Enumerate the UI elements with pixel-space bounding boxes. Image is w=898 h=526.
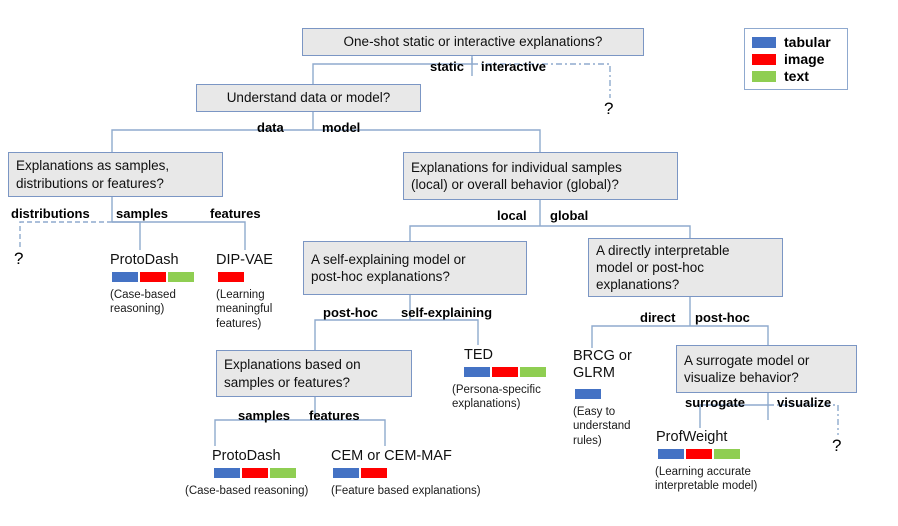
edge-label-interactive: interactive bbox=[481, 60, 546, 73]
leaf-protodash-top-desc: (Case-based reasoning) bbox=[110, 288, 210, 317]
leaf-ted-name: TED bbox=[464, 347, 493, 364]
question-box-data-samples[interactable]: Explanations as samples, distributions o… bbox=[8, 152, 223, 197]
leaf-ted-desc: (Persona-specific explanations) bbox=[452, 383, 562, 412]
legend-label-image: image bbox=[784, 52, 824, 66]
edge-label-samples-2: samples bbox=[238, 409, 290, 422]
swatches-profweight bbox=[658, 449, 740, 459]
edge-label-post-hoc-local: post-hoc bbox=[323, 306, 378, 319]
leaf-protodash-top-name: ProtoDash bbox=[110, 252, 179, 269]
question-box-understand[interactable]: Understand data or model? bbox=[196, 84, 421, 112]
leaf-brcg-glrm-name: BRCG or GLRM bbox=[573, 348, 643, 381]
edge-label-data: data bbox=[257, 121, 284, 134]
edge-label-features-2: features bbox=[309, 409, 360, 422]
leaf-dipvae-desc: (Learning meaningful features) bbox=[216, 288, 296, 331]
edge-label-samples: samples bbox=[116, 207, 168, 220]
swatch-text bbox=[520, 367, 546, 377]
edge-label-global: global bbox=[550, 209, 588, 222]
edge-label-features: features bbox=[210, 207, 261, 220]
edge-label-static: static bbox=[430, 60, 464, 73]
leaf-cem-name: CEM or CEM-MAF bbox=[331, 448, 452, 465]
swatch-text bbox=[714, 449, 740, 459]
question-box-directly-interpretable[interactable]: A directly interpretable model or post-h… bbox=[588, 238, 783, 297]
swatch-tabular bbox=[464, 367, 490, 377]
question-box-samples-features[interactable]: Explanations based on samples or feature… bbox=[216, 350, 412, 397]
leaf-protodash-bottom-name: ProtoDash bbox=[212, 448, 281, 465]
leaf-cem-desc: (Feature based explanations) bbox=[331, 484, 521, 498]
leaf-dipvae-name: DIP-VAE bbox=[216, 252, 273, 269]
edge-label-direct: direct bbox=[640, 311, 675, 324]
legend-item-tabular: tabular bbox=[752, 35, 839, 49]
edge-label-self-explaining: self-explaining bbox=[401, 306, 492, 319]
swatches-cem bbox=[333, 468, 387, 478]
unknown-marker-visualize: ? bbox=[832, 437, 841, 454]
leaf-profweight-name: ProfWeight bbox=[656, 429, 727, 446]
unknown-marker-interactive: ? bbox=[604, 100, 613, 117]
swatch-tabular bbox=[333, 468, 359, 478]
swatches-brcg-glrm bbox=[575, 389, 601, 399]
question-box-surrogate[interactable]: A surrogate model or visualize behavior? bbox=[676, 345, 857, 393]
legend-swatch-image bbox=[752, 54, 776, 65]
swatch-text bbox=[270, 468, 296, 478]
question-box-root[interactable]: One-shot static or interactive explanati… bbox=[302, 28, 644, 56]
decision-tree-diagram: tabular image text One-shot static or in… bbox=[0, 0, 898, 526]
question-box-local-global[interactable]: Explanations for individual samples (loc… bbox=[403, 152, 678, 200]
swatch-image bbox=[686, 449, 712, 459]
legend-label-tabular: tabular bbox=[784, 35, 831, 49]
edge-label-model: model bbox=[322, 121, 360, 134]
edge-label-distributions: distributions bbox=[11, 207, 90, 220]
swatches-ted bbox=[464, 367, 546, 377]
legend-item-image: image bbox=[752, 52, 839, 66]
edge-label-visualize: visualize bbox=[777, 396, 831, 409]
edge-label-local: local bbox=[497, 209, 527, 222]
swatches-protodash-top bbox=[112, 272, 194, 282]
swatch-tabular bbox=[112, 272, 138, 282]
swatch-text bbox=[168, 272, 194, 282]
swatch-tabular bbox=[658, 449, 684, 459]
leaf-brcg-glrm-desc: (Easy to understand rules) bbox=[573, 405, 645, 448]
swatch-image bbox=[140, 272, 166, 282]
swatch-tabular bbox=[575, 389, 601, 399]
legend-item-text: text bbox=[752, 69, 839, 83]
legend-label-text: text bbox=[784, 69, 809, 83]
legend: tabular image text bbox=[744, 28, 848, 90]
legend-swatch-text bbox=[752, 71, 776, 82]
swatches-dipvae bbox=[218, 272, 244, 282]
unknown-marker-distributions: ? bbox=[14, 250, 23, 267]
swatch-image bbox=[492, 367, 518, 377]
swatch-image bbox=[361, 468, 387, 478]
swatch-tabular bbox=[214, 468, 240, 478]
swatch-image bbox=[242, 468, 268, 478]
swatches-protodash-bottom bbox=[214, 468, 296, 478]
leaf-profweight-desc: (Learning accurate interpretable model) bbox=[655, 465, 795, 494]
edge-label-surrogate: surrogate bbox=[685, 396, 745, 409]
swatch-image bbox=[218, 272, 244, 282]
question-box-self-explaining[interactable]: A self-explaining model or post-hoc expl… bbox=[303, 241, 527, 295]
leaf-protodash-bottom-desc: (Case-based reasoning) bbox=[185, 484, 335, 498]
legend-swatch-tabular bbox=[752, 37, 776, 48]
edge-label-post-hoc-global: post-hoc bbox=[695, 311, 750, 324]
